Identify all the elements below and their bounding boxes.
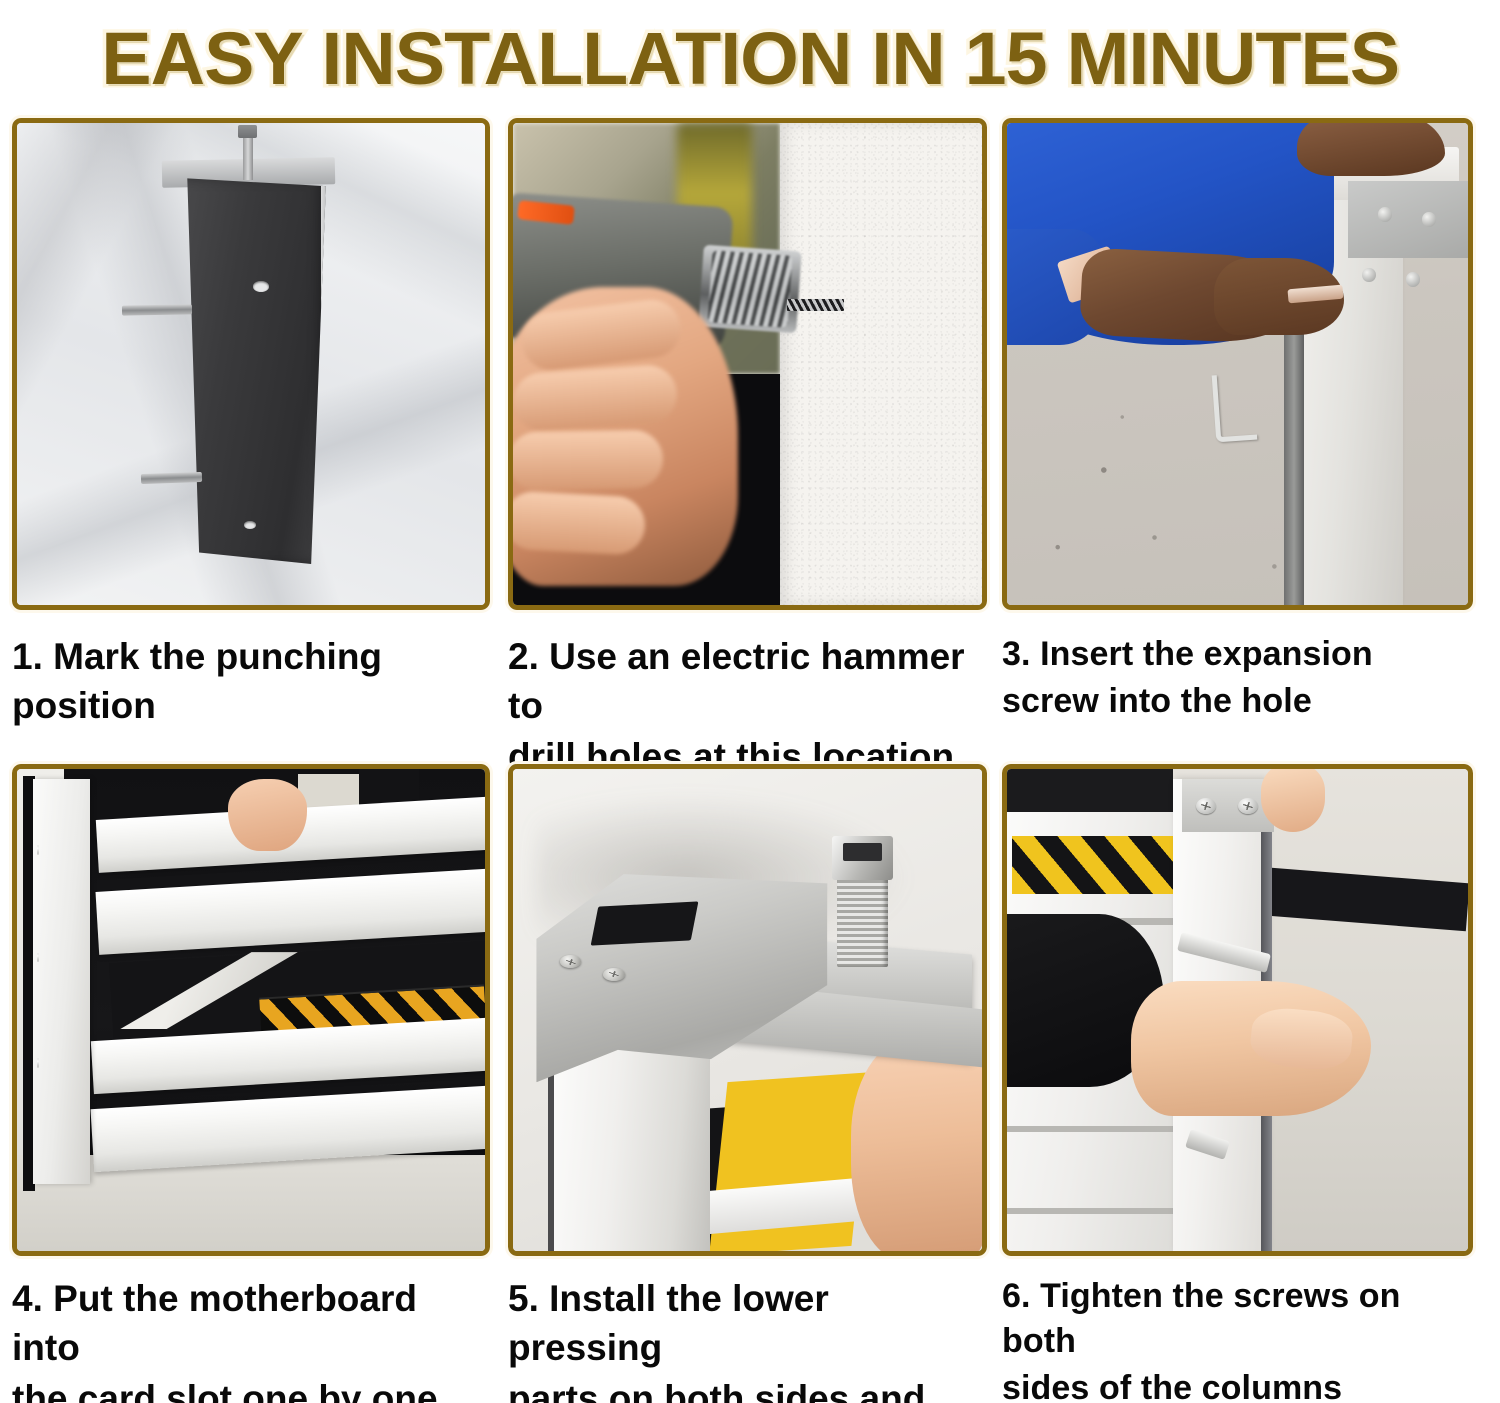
step-2-photo-frame xyxy=(508,118,987,610)
worker-second-hand xyxy=(1297,123,1445,176)
photo-tighten-column-screws xyxy=(1007,769,1468,1251)
masonry-drill-bit xyxy=(787,299,843,312)
step-6-caption-line-1: 6. Tighten the screws on both xyxy=(1002,1274,1473,1364)
post-screw-c xyxy=(37,1058,39,1068)
step-3-photo-frame xyxy=(1002,118,1473,610)
stud-upper xyxy=(122,305,192,316)
phillips-cross-icon xyxy=(609,970,620,979)
photo-insert-motherboards xyxy=(17,769,485,1251)
step-3-caption-line-1: 3. Insert the expansion xyxy=(1002,632,1473,677)
step-3-caption-line-2: screw into the hole xyxy=(1002,679,1473,724)
second-hand-top xyxy=(1261,769,1326,832)
finger-4 xyxy=(513,490,646,555)
installation-steps-infographic: EASY INSTALLATION IN 15 MINUTES 1. Mark … xyxy=(0,0,1500,1403)
phillips-cross-icon xyxy=(1242,801,1254,812)
photo-mark-punching-position xyxy=(17,123,485,605)
bracket-screw-a xyxy=(560,955,582,968)
step-4-caption-line-2: the card slot one by one xyxy=(12,1374,490,1403)
step-5-photo-frame xyxy=(508,764,987,1256)
allen-key-icon xyxy=(1212,372,1258,442)
post-screw-a xyxy=(37,845,39,855)
photo-install-pressing-parts xyxy=(513,769,982,1251)
step-5-caption-line-2: parts on both sides and xyxy=(508,1374,987,1403)
bracket-cutout-hole xyxy=(590,902,698,946)
step-2: 2. Use an electric hammer to drill holes… xyxy=(498,118,995,764)
phillips-cross-icon xyxy=(565,957,576,966)
step-1: 1. Mark the punching position xyxy=(0,118,498,764)
step-6: 6. Tighten the screws on both sides of t… xyxy=(995,764,1500,1403)
steps-grid: 1. Mark the punching position xyxy=(0,118,1500,1403)
finger-3 xyxy=(513,430,664,491)
left-column-post xyxy=(33,779,89,1184)
step-6-caption-line-2: sides of the columns xyxy=(1002,1366,1473,1403)
column-screw-b xyxy=(1238,798,1258,814)
step-4: 4. Put the motherboard into the card slo… xyxy=(0,764,498,1403)
installer-hand xyxy=(228,779,308,851)
hazard-stripe-tape xyxy=(1012,836,1178,894)
plate-screw-b xyxy=(1422,212,1436,226)
white-wall-surface xyxy=(780,123,982,605)
photo-drill-holes xyxy=(513,123,982,605)
bolt-head xyxy=(832,836,893,879)
bracket-screw-b xyxy=(603,968,625,981)
marking-hole-upper xyxy=(253,281,269,292)
step-6-photo-frame xyxy=(1002,764,1473,1256)
dark-column-body xyxy=(178,178,325,564)
column-mount-plate xyxy=(1348,181,1468,258)
phillips-cross-icon xyxy=(1200,801,1212,812)
drill-chuck-rings xyxy=(708,250,793,328)
step-5: 5. Install the lower pressing parts on b… xyxy=(498,764,995,1403)
page-title: EASY INSTALLATION IN 15 MINUTES xyxy=(101,22,1399,96)
post-screw-b xyxy=(37,953,39,963)
step-3: 3. Insert the expansion screw into the h… xyxy=(995,118,1500,764)
photo-insert-expansion-screw xyxy=(1007,123,1468,605)
plate-screw-c xyxy=(1362,268,1376,282)
plate-screw-a xyxy=(1378,207,1392,221)
step-1-photo-frame xyxy=(12,118,490,610)
top-bolt-icon xyxy=(243,135,253,181)
supporting-hand xyxy=(851,1039,982,1251)
finger-2 xyxy=(513,363,679,432)
step-2-caption-line-1: 2. Use an electric hammer to xyxy=(508,632,987,730)
title-banner: EASY INSTALLATION IN 15 MINUTES xyxy=(0,0,1500,118)
plate-screw-d xyxy=(1406,272,1420,286)
step-4-photo-frame xyxy=(12,764,490,1256)
step-5-caption-line-1: 5. Install the lower pressing xyxy=(508,1274,987,1372)
panel-slot-4 xyxy=(1007,1208,1191,1215)
step-1-caption: 1. Mark the punching position xyxy=(12,632,490,730)
step-4-caption-line-1: 4. Put the motherboard into xyxy=(12,1274,490,1372)
panel-slot-3 xyxy=(1007,1126,1191,1133)
stud-lower xyxy=(141,472,202,484)
